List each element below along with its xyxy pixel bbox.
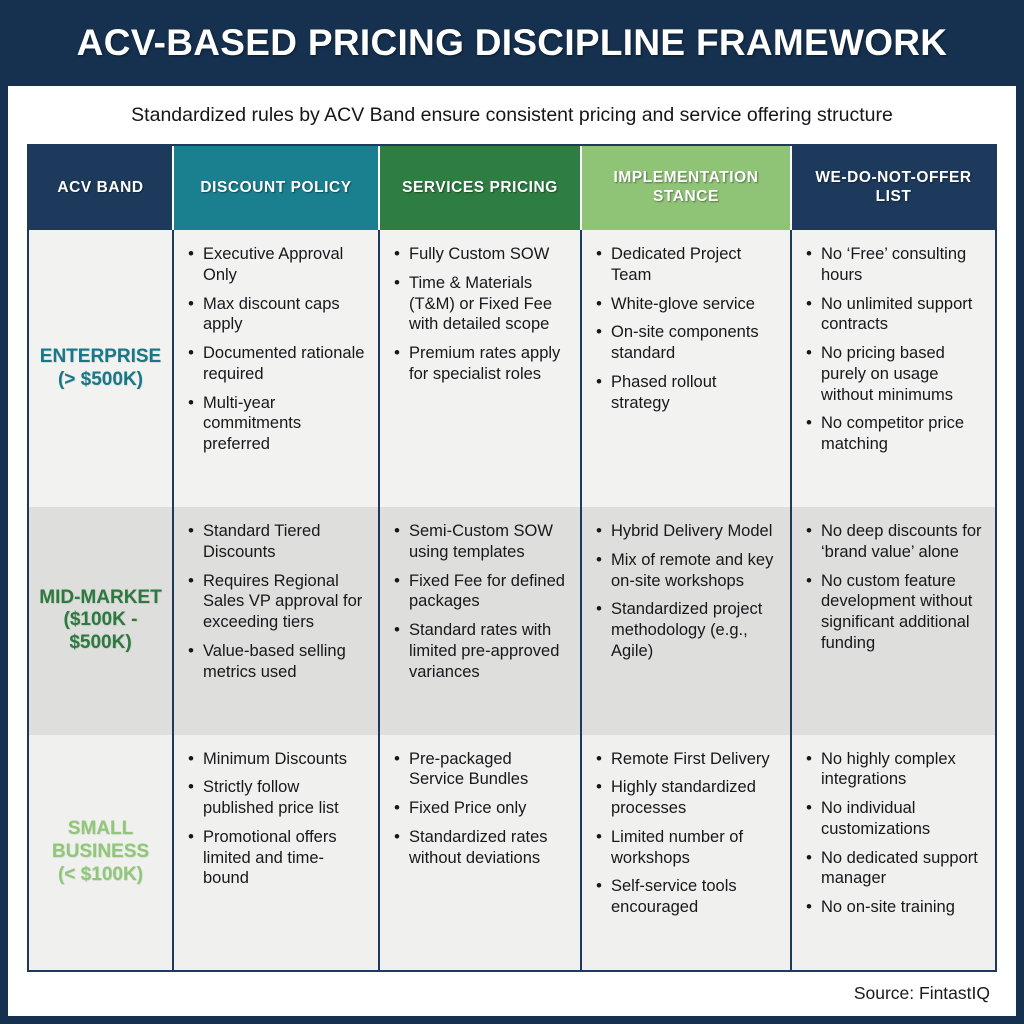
table-body: ENTERPRISE (> $500K) Executive Approval … bbox=[29, 230, 995, 970]
we-do-not-offer-cell: No deep discounts for ‘brand value’ alon… bbox=[792, 507, 995, 734]
bullet-item: Pre-packaged Service Bundles bbox=[392, 749, 568, 791]
acv-band-cell: MID-MARKET ($100K - $500K) bbox=[29, 507, 174, 734]
bullet-item: Executive Approval Only bbox=[186, 244, 366, 286]
discount-policy-cell: Standard Tiered DiscountsRequires Region… bbox=[174, 507, 380, 734]
page-title: ACV-BASED PRICING DISCIPLINE FRAMEWORK bbox=[77, 22, 948, 64]
body-panel: Standardized rules by ACV Band ensure co… bbox=[8, 86, 1016, 1016]
bullet-item: Minimum Discounts bbox=[186, 749, 366, 770]
subtitle-row: Standardized rules by ACV Band ensure co… bbox=[8, 86, 1016, 144]
bullet-list: Pre-packaged Service BundlesFixed Price … bbox=[388, 749, 570, 869]
we-do-not-offer-cell: No highly complex integrationsNo individ… bbox=[792, 735, 995, 970]
bullet-list: Executive Approval OnlyMax discount caps… bbox=[182, 244, 368, 455]
bullet-item: Fixed Price only bbox=[392, 798, 568, 819]
column-header-implementation-stance: IMPLEMENTATION STANCE bbox=[582, 146, 792, 230]
services-pricing-cell: Fully Custom SOWTime & Materials (T&M) o… bbox=[380, 230, 582, 507]
bullet-item: No custom feature development without si… bbox=[804, 571, 983, 654]
bullet-item: Fully Custom SOW bbox=[392, 244, 568, 265]
bullet-item: Max discount caps apply bbox=[186, 294, 366, 336]
acv-band-label: MID-MARKET ($100K - $500K) bbox=[35, 587, 166, 655]
bullet-list: Remote First DeliveryHighly standardized… bbox=[590, 749, 780, 918]
bullet-item: No unlimited support contracts bbox=[804, 294, 983, 336]
bullet-item: Standardized rates without deviations bbox=[392, 827, 568, 869]
bullet-item: Remote First Delivery bbox=[594, 749, 778, 770]
bullet-item: Highly standardized processes bbox=[594, 777, 778, 819]
bullet-item: Multi-year commitments preferred bbox=[186, 393, 366, 455]
bullet-item: Mix of remote and key on-site workshops bbox=[594, 550, 778, 592]
acv-band-cell: ENTERPRISE (> $500K) bbox=[29, 230, 174, 507]
column-header-services-pricing: SERVICES PRICING bbox=[380, 146, 582, 230]
footer-row: Source: FintastIQ bbox=[8, 972, 1016, 1016]
we-do-not-offer-cell: No ‘Free’ consulting hoursNo unlimited s… bbox=[792, 230, 995, 507]
bullet-item: Dedicated Project Team bbox=[594, 244, 778, 286]
column-header-acv-band: ACV BAND bbox=[29, 146, 174, 230]
bullet-list: Hybrid Delivery ModelMix of remote and k… bbox=[590, 521, 780, 662]
bullet-item: Limited number of workshops bbox=[594, 827, 778, 869]
bullet-item: No deep discounts for ‘brand value’ alon… bbox=[804, 521, 983, 563]
bullet-item: Value-based selling metrics used bbox=[186, 641, 366, 683]
implementation-stance-cell: Remote First DeliveryHighly standardized… bbox=[582, 735, 792, 970]
bullet-list: No ‘Free’ consulting hoursNo unlimited s… bbox=[800, 244, 985, 455]
column-header-we-do-not-offer-list: WE-DO-NOT-OFFER LIST bbox=[792, 146, 995, 230]
page-subtitle: Standardized rules by ACV Band ensure co… bbox=[131, 104, 893, 127]
table-row: MID-MARKET ($100K - $500K) Standard Tier… bbox=[29, 507, 995, 734]
bullet-list: No deep discounts for ‘brand value’ alon… bbox=[800, 521, 985, 654]
implementation-stance-cell: Hybrid Delivery ModelMix of remote and k… bbox=[582, 507, 792, 734]
bullet-item: Documented rationale required bbox=[186, 343, 366, 385]
acv-band-label: SMALL BUSINESS (< $100K) bbox=[35, 818, 166, 886]
bullet-item: Standard Tiered Discounts bbox=[186, 521, 366, 563]
table-header-row: ACV BAND DISCOUNT POLICY SERVICES PRICIN… bbox=[29, 146, 995, 230]
bullet-item: Phased rollout strategy bbox=[594, 372, 778, 414]
bullet-item: No highly complex integrations bbox=[804, 749, 983, 791]
bullet-item: Self-service tools encouraged bbox=[594, 876, 778, 918]
bullet-list: Dedicated Project TeamWhite-glove servic… bbox=[590, 244, 780, 413]
bullet-list: Fully Custom SOWTime & Materials (T&M) o… bbox=[388, 244, 570, 385]
framework-table: ACV BAND DISCOUNT POLICY SERVICES PRICIN… bbox=[27, 144, 997, 972]
discount-policy-cell: Minimum DiscountsStrictly follow publish… bbox=[174, 735, 380, 970]
bullet-item: Promotional offers limited and time-boun… bbox=[186, 827, 366, 889]
bullet-item: Time & Materials (T&M) or Fixed Fee with… bbox=[392, 273, 568, 335]
bullet-item: Fixed Fee for defined packages bbox=[392, 571, 568, 613]
bullet-item: Requires Regional Sales VP approval for … bbox=[186, 571, 366, 633]
bullet-item: White-glove service bbox=[594, 294, 778, 315]
implementation-stance-cell: Dedicated Project TeamWhite-glove servic… bbox=[582, 230, 792, 507]
bullet-item: No individual customizations bbox=[804, 798, 983, 840]
bullet-item: Semi-Custom SOW using templates bbox=[392, 521, 568, 563]
services-pricing-cell: Pre-packaged Service BundlesFixed Price … bbox=[380, 735, 582, 970]
acv-band-label: ENTERPRISE (> $500K) bbox=[40, 346, 161, 392]
bullet-item: Strictly follow published price list bbox=[186, 777, 366, 819]
source-attribution: Source: FintastIQ bbox=[854, 983, 990, 1004]
bullet-item: No pricing based purely on usage without… bbox=[804, 343, 983, 405]
bullet-item: Standardized project methodology (e.g., … bbox=[594, 599, 778, 661]
bullet-item: Hybrid Delivery Model bbox=[594, 521, 778, 542]
bullet-list: No highly complex integrationsNo individ… bbox=[800, 749, 985, 918]
bullet-item: Standard rates with limited pre-approved… bbox=[392, 620, 568, 682]
bullet-item: Premium rates apply for specialist roles bbox=[392, 343, 568, 385]
bullet-list: Minimum DiscountsStrictly follow publish… bbox=[182, 749, 368, 890]
table-row: ENTERPRISE (> $500K) Executive Approval … bbox=[29, 230, 995, 507]
bullet-item: No dedicated support manager bbox=[804, 848, 983, 890]
bullet-item: No on-site training bbox=[804, 897, 983, 918]
bullet-item: On-site components standard bbox=[594, 322, 778, 364]
title-banner: ACV-BASED PRICING DISCIPLINE FRAMEWORK bbox=[0, 0, 1024, 86]
table-row: SMALL BUSINESS (< $100K) Minimum Discoun… bbox=[29, 735, 995, 970]
acv-band-cell: SMALL BUSINESS (< $100K) bbox=[29, 735, 174, 970]
discount-policy-cell: Executive Approval OnlyMax discount caps… bbox=[174, 230, 380, 507]
infographic-page: ACV-BASED PRICING DISCIPLINE FRAMEWORK S… bbox=[0, 0, 1024, 1024]
bullet-item: No ‘Free’ consulting hours bbox=[804, 244, 983, 286]
bullet-item: No competitor price matching bbox=[804, 413, 983, 455]
services-pricing-cell: Semi-Custom SOW using templatesFixed Fee… bbox=[380, 507, 582, 734]
bullet-list: Semi-Custom SOW using templatesFixed Fee… bbox=[388, 521, 570, 682]
bullet-list: Standard Tiered DiscountsRequires Region… bbox=[182, 521, 368, 682]
column-header-discount-policy: DISCOUNT POLICY bbox=[174, 146, 380, 230]
